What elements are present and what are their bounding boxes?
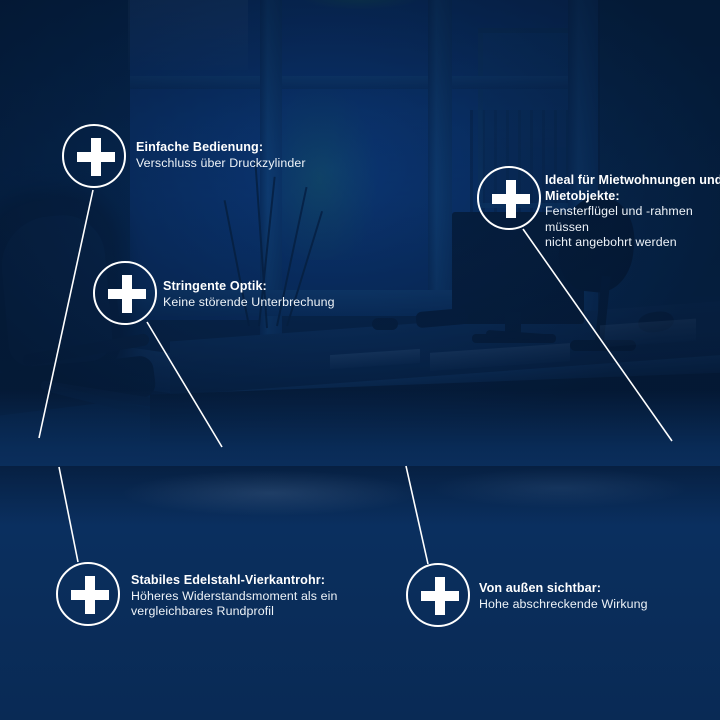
callout-description: Fensterflügel und -rahmen müssen nicht a… [545, 204, 720, 251]
leader-line-stabiles-edelstahl [59, 467, 78, 562]
callout-title: Von außen sichtbar: [479, 581, 709, 597]
callout-text-block: Einfache Bedienung: Verschluss über Druc… [136, 140, 386, 171]
callout-description: Verschluss über Druckzylinder [136, 156, 386, 172]
plus-icon[interactable] [93, 261, 157, 325]
callout-description: Hohe abschreckende Wirkung [479, 597, 709, 613]
product-feature-graphic: Einfache Bedienung: Verschluss über Druc… [0, 0, 720, 720]
leader-line-ideal-mietwohnungen [523, 229, 672, 441]
callout-description: Höheres Widerstandsmoment als ein vergle… [131, 589, 381, 620]
callout-title: Ideal für Mietwohnungen und Mietobjekte: [545, 173, 720, 204]
plus-icon-vertical-bar [91, 138, 101, 176]
plus-icon-vertical-bar [122, 275, 132, 313]
leader-line-von-aussen-sichtbar [406, 466, 428, 564]
callout-title: Stringente Optik: [163, 279, 403, 295]
callout-title: Einfache Bedienung: [136, 140, 386, 156]
leader-line-einfache-bedienung [39, 190, 93, 438]
callout-text-block: Von außen sichtbar: Hohe abschreckende W… [479, 581, 709, 612]
callout-text-block: Stringente Optik: Keine störende Unterbr… [163, 279, 403, 310]
plus-icon-vertical-bar [85, 576, 95, 614]
plus-icon[interactable] [56, 562, 120, 626]
callout-text-block: Ideal für Mietwohnungen und Mietobjekte:… [545, 173, 720, 251]
callout-title: Stabiles Edelstahl-Vierkantrohr: [131, 573, 381, 589]
plus-icon[interactable] [477, 166, 541, 230]
leader-line-stringente-optik [147, 322, 222, 447]
plus-icon-vertical-bar [435, 577, 445, 615]
plus-icon[interactable] [62, 124, 126, 188]
callout-description: Keine störende Unterbrechung [163, 295, 403, 311]
plus-icon-vertical-bar [506, 180, 516, 218]
callout-text-block: Stabiles Edelstahl-Vierkantrohr: Höheres… [131, 573, 381, 620]
plus-icon[interactable] [406, 563, 470, 627]
